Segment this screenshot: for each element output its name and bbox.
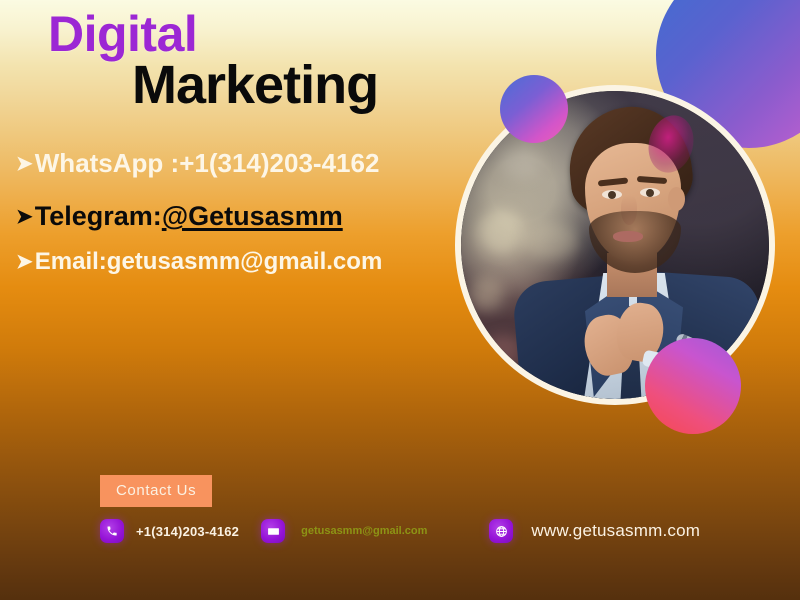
bottom-email-text: getusasmm@gmail.com — [301, 525, 427, 537]
contact-lines: ➤ WhatsApp : +1(314)203-4162 ➤ Telegram:… — [16, 148, 446, 276]
eye-left — [602, 190, 622, 199]
title-line-digital: Digital — [48, 8, 460, 61]
bokeh-light — [469, 277, 503, 311]
ear — [668, 187, 685, 211]
marketing-banner: Digital Marketing ➤ WhatsApp : +1(314)20… — [0, 0, 800, 600]
contact-label-telegram: Telegram: — [35, 201, 162, 232]
contact-label-whatsapp: WhatsApp : — [35, 148, 179, 179]
bokeh-light — [523, 223, 579, 259]
gradient-circle-blue-pink — [500, 75, 568, 143]
contact-value-email[interactable]: getusasmm@gmail.com — [107, 248, 382, 276]
eye-right — [640, 188, 660, 197]
bottom-email-item[interactable]: getusasmm@gmail.com — [261, 519, 427, 543]
contact-line-whatsapp: ➤ WhatsApp : +1(314)203-4162 — [16, 148, 446, 179]
arrow-bullet-icon: ➤ — [16, 252, 33, 272]
bottom-website-text: www.getusasmm.com — [531, 521, 700, 541]
globe-icon — [489, 519, 513, 543]
contact-line-telegram: ➤ Telegram: @Getusasmm — [16, 201, 446, 232]
phone-icon — [100, 519, 124, 543]
bokeh-light — [501, 149, 541, 179]
title-line-marketing: Marketing — [132, 57, 460, 114]
arrow-bullet-icon: ➤ — [16, 154, 33, 174]
beard — [589, 211, 681, 273]
bottom-phone-item[interactable]: +1(314)203-4162 — [100, 519, 239, 543]
arrow-bullet-icon: ➤ — [16, 207, 33, 227]
envelope-icon — [261, 519, 285, 543]
bottom-contact-bar: +1(314)203-4162 getusasmm@gmail.com — [100, 519, 700, 543]
bokeh-light — [479, 211, 523, 255]
contact-us-badge[interactable]: Contact Us — [100, 475, 212, 507]
bottom-website-item[interactable]: www.getusasmm.com — [489, 519, 700, 543]
contact-line-email: ➤ Email: getusasmm@gmail.com — [16, 248, 446, 276]
mouth — [613, 231, 643, 242]
bottom-phone-text: +1(314)203-4162 — [136, 524, 239, 539]
headline: Digital Marketing — [40, 8, 460, 113]
contact-value-telegram[interactable]: @Getusasmm — [162, 201, 343, 232]
contact-label-email: Email: — [35, 248, 107, 276]
contact-value-whatsapp[interactable]: +1(314)203-4162 — [179, 148, 379, 179]
gradient-circle-pink-purple — [645, 338, 741, 434]
